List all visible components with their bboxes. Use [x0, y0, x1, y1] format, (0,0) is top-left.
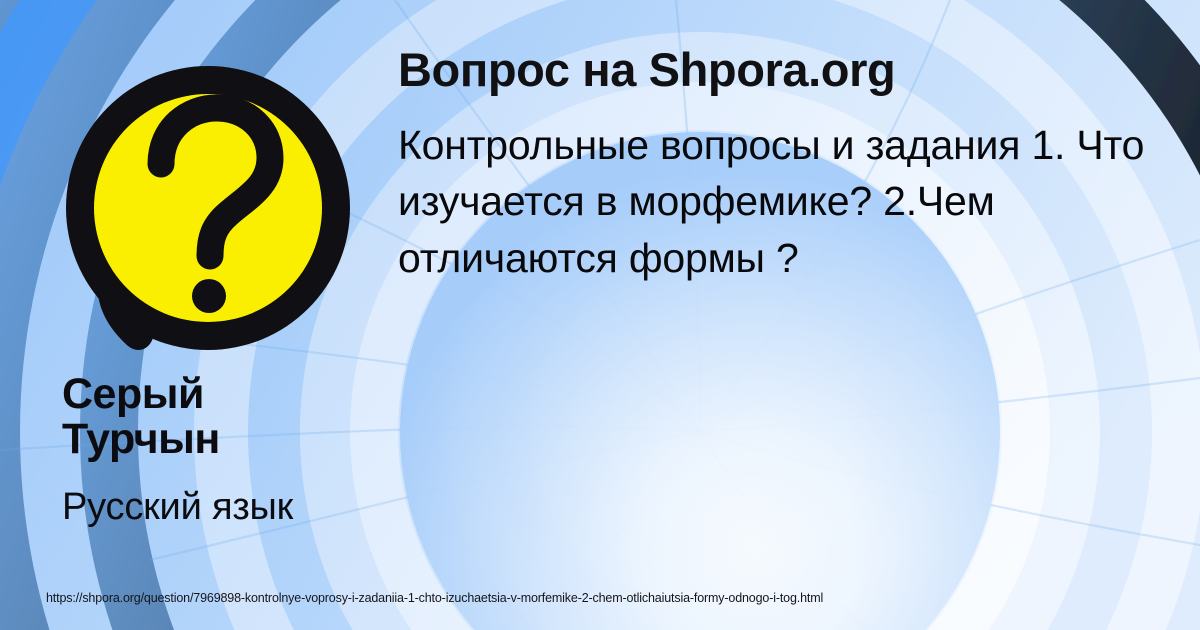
author-name: Серый Турчын [62, 372, 392, 461]
question-mark-dot [192, 279, 226, 313]
question-speech-bubble-icon [48, 58, 368, 358]
question-body-text: Контрольные вопросы и задания 1. Что изу… [398, 117, 1198, 287]
content-column: Вопрос на Shpora.org Контрольные вопросы… [398, 44, 1198, 286]
page-title: Вопрос на Shpora.org [398, 44, 1198, 97]
question-share-card: Вопрос на Shpora.org Контрольные вопросы… [0, 0, 1200, 630]
author-block: Серый Турчын Русский язык [62, 372, 392, 529]
source-url[interactable]: https://shpora.org/question/7969898-kont… [46, 591, 823, 605]
author-name-line-2: Турчын [62, 417, 392, 462]
subject-label: Русский язык [62, 487, 392, 529]
author-name-line-1: Серый [62, 372, 392, 417]
